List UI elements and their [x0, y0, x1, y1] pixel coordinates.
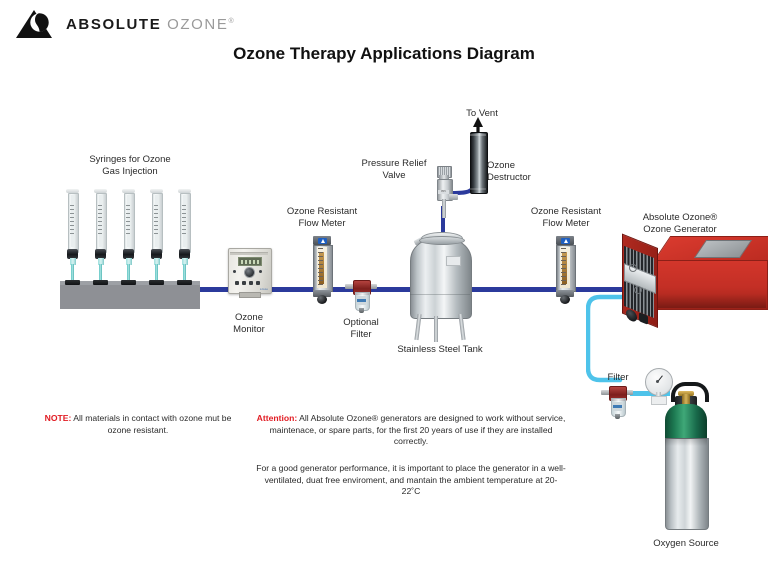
flow-meter-left: [311, 236, 333, 304]
attention-text: All Absolute Ozone® generators are desig…: [270, 413, 566, 446]
note-text: All materials in contact with ozone mut …: [71, 413, 231, 435]
ozone-destructor-device: [470, 132, 486, 192]
optional-filter-label: Optional Filter: [321, 317, 401, 341]
performance-text: For a good generator performance, it is …: [256, 463, 566, 496]
brand-wordmark: ABSOLUTE OZONE®: [66, 16, 235, 33]
brand-word-absolute: ABSOLUTE: [66, 16, 161, 33]
ozone-generator-label: Absolute Ozone® Ozone Generator: [620, 212, 740, 236]
generator-oxygen-inlet-port: [634, 286, 642, 294]
registered-mark: ®: [228, 18, 235, 25]
ozone-monitor-device: ozone: [226, 246, 272, 294]
syringe-2: [93, 189, 108, 289]
brand-word-ozone: OZONE: [167, 16, 228, 33]
attention-block: Attention: All Absolute Ozone® generator…: [256, 413, 566, 448]
flow-meter-brand-badge-icon: [318, 238, 327, 244]
brand-logo: ABSOLUTE OZONE®: [14, 8, 214, 42]
syringe-3: [121, 189, 136, 289]
note-block: NOTE: All materials in contact with ozon…: [38, 413, 238, 436]
flow-meter-right-label: Ozone Resistant Flow Meter: [516, 206, 616, 230]
attention-keyword: Attention:: [257, 413, 298, 423]
syringe-1: [65, 189, 80, 289]
generator-ozone-outlet-port: [629, 264, 637, 272]
optional-filter-device: [348, 276, 374, 314]
stainless-steel-tank-label: Stainless Steel Tank: [378, 344, 502, 356]
absolute-ozone-triangle-logo-icon: [14, 8, 58, 40]
ozone-generator-device: [614, 236, 766, 328]
oxygen-cylinder: [659, 382, 713, 530]
syringe-4: [149, 189, 164, 289]
flow-meter-left-label: Ozone Resistant Flow Meter: [272, 206, 372, 230]
oxygen-filter-device: [604, 382, 630, 420]
note-keyword: NOTE:: [45, 413, 72, 423]
monitor-knob: [244, 267, 255, 278]
flow-meter-left-adjust-knob: [317, 295, 327, 304]
syringe-5: [177, 189, 192, 289]
flow-meter-right: [554, 236, 576, 304]
diagram-canvas: ABSOLUTE OZONE® Ozone Therapy Applicatio…: [0, 0, 768, 576]
tank-nameplate: [446, 256, 461, 266]
flow-meter-brand-badge-icon: [561, 238, 570, 244]
ozone-monitor-label: Ozone Monitor: [209, 312, 289, 336]
ozone-destructor-label: Ozone Destructor: [487, 160, 557, 184]
pressure-relief-valve-device: PRV: [430, 166, 456, 218]
syringes-label: Syringes for Ozone Gas Injection: [60, 154, 200, 178]
stainless-steel-tank: [402, 222, 478, 342]
page-title: Ozone Therapy Applications Diagram: [0, 44, 768, 64]
to-vent-label: To Vent: [460, 108, 504, 120]
performance-note-block: For a good generator performance, it is …: [256, 463, 566, 498]
monitor-display: [238, 257, 262, 266]
flow-meter-right-adjust-knob: [560, 295, 570, 304]
oxygen-source-label: Oxygen Source: [624, 538, 748, 550]
